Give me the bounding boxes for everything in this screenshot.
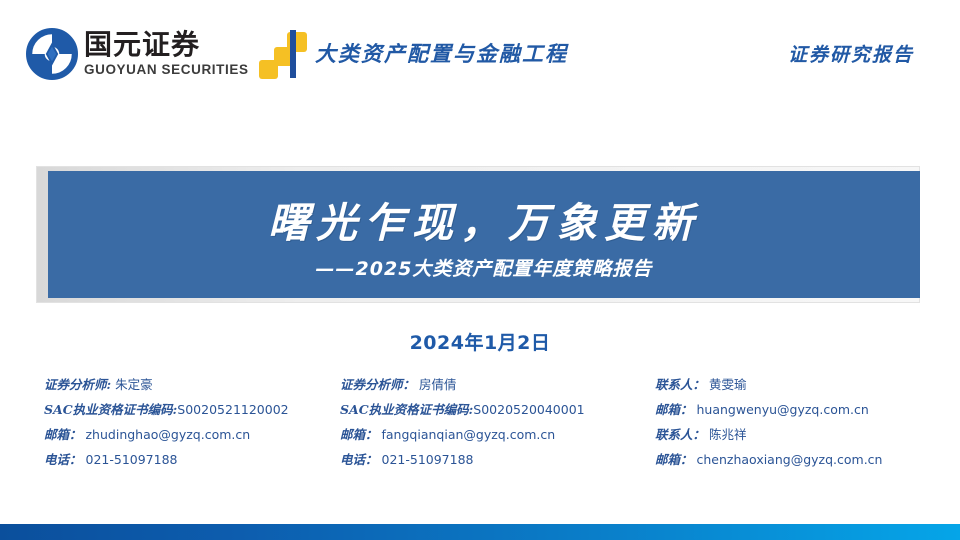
contact-phone: 021-51097188 (86, 452, 178, 467)
logo-squares-icon (253, 30, 309, 82)
contact-label: 邮箱： (655, 452, 693, 467)
page-header: 国元证券 GUOYUAN SECURITIES 大类资产配置与金融工程 证券研究… (0, 0, 960, 110)
contact-line: 电话： 021-51097188 (44, 447, 344, 472)
contact-line: 邮箱： chenzhaoxiang@gyzq.com.cn (655, 447, 955, 472)
contact-label: 邮箱： (655, 402, 693, 417)
contact-line: 证券分析师: 朱定豪 (44, 372, 344, 397)
contact-column-associates: 联系人： 黄雯瑜 邮箱： huangwenyu@gyzq.com.cn 联系人：… (655, 372, 955, 472)
contact-email[interactable]: zhudinghao@gyzq.com.cn (86, 427, 251, 442)
contact-line: 邮箱： huangwenyu@gyzq.com.cn (655, 397, 955, 422)
contact-value: 陈兆祥 (709, 427, 747, 442)
contact-column-analyst-2: 证券分析师： 房倩倩 SAC执业资格证书编码:S0020520040001 邮箱… (340, 372, 640, 472)
contact-label: 电话： (44, 452, 82, 467)
logo-name-en: GUOYUAN SECURITIES (84, 61, 249, 78)
contact-email[interactable]: fangqianqian@gyzq.com.cn (382, 427, 556, 442)
contact-email[interactable]: huangwenyu@gyzq.com.cn (697, 402, 869, 417)
contact-email[interactable]: chenzhaoxiang@gyzq.com.cn (697, 452, 883, 467)
contact-label: 邮箱： (44, 427, 82, 442)
contact-line: 邮箱： zhudinghao@gyzq.com.cn (44, 422, 344, 447)
contact-label: 邮箱： (340, 427, 378, 442)
company-logo: 国元证券 GUOYUAN SECURITIES (26, 28, 309, 82)
contact-column-analyst-1: 证券分析师: 朱定豪 SAC执业资格证书编码:S0020521120002 邮箱… (44, 372, 344, 472)
title-banner: 曙光乍现，万象更新 ——2025大类资产配置年度策略报告 (36, 166, 920, 303)
footer-gradient-bar (0, 524, 960, 540)
logo-square-3 (259, 60, 278, 79)
contact-label: 电话： (340, 452, 378, 467)
contact-value: 朱定豪 (115, 377, 153, 392)
contact-label: SAC执业资格证书编码: (44, 402, 177, 417)
contact-value: S0020521120002 (177, 402, 288, 417)
contact-phone: 021-51097188 (382, 452, 474, 467)
header-divider (290, 30, 296, 78)
contact-line: SAC执业资格证书编码:S0020521120002 (44, 397, 344, 422)
guoyuan-circular-emblem-icon (26, 28, 78, 80)
contact-value: S0020520040001 (473, 402, 584, 417)
contact-value: 黄雯瑜 (709, 377, 747, 392)
contact-label: 联系人： (655, 377, 705, 392)
contact-line: 联系人： 陈兆祥 (655, 422, 955, 447)
contact-line: 联系人： 黄雯瑜 (655, 372, 955, 397)
report-title: 曙光乍现，万象更新 (48, 189, 920, 249)
contact-line: SAC执业资格证书编码:S0020520040001 (340, 397, 640, 422)
contact-label: 证券分析师： (340, 377, 415, 392)
header-subject: 大类资产配置与金融工程 (315, 38, 568, 68)
contact-line: 邮箱： fangqianqian@gyzq.com.cn (340, 422, 640, 447)
contacts-block: 证券分析师: 朱定豪 SAC执业资格证书编码:S0020521120002 邮箱… (0, 372, 960, 472)
contact-label: 联系人： (655, 427, 705, 442)
logo-name-cn: 国元证券 (84, 29, 249, 61)
contact-value: 房倩倩 (419, 377, 457, 392)
contact-label: 证券分析师: (44, 377, 111, 392)
header-report-type: 证券研究报告 (788, 40, 914, 67)
logo-wordmark: 国元证券 GUOYUAN SECURITIES (84, 28, 249, 78)
report-date: 2024年1月2日 (0, 328, 960, 355)
contact-line: 电话： 021-51097188 (340, 447, 640, 472)
contact-label: SAC执业资格证书编码: (340, 402, 473, 417)
report-subtitle: ——2025大类资产配置年度策略报告 (48, 254, 920, 281)
contact-line: 证券分析师： 房倩倩 (340, 372, 640, 397)
title-banner-fill: 曙光乍现，万象更新 ——2025大类资产配置年度策略报告 (48, 171, 920, 298)
